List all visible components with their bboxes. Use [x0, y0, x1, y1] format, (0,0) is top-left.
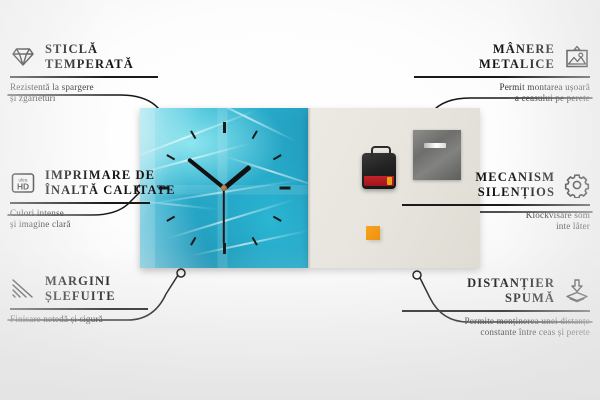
callout-title-2: METALICE: [479, 57, 555, 72]
callout-rule: [414, 76, 590, 78]
callout-title-2: TEMPERATĂ: [45, 57, 134, 72]
callout-title-2: SPUMĂ: [467, 291, 555, 306]
callout-desc-2: constante între ceas și perete: [400, 327, 590, 339]
callout-silent-mechanism: MECANISM SILENȚIOS Klockvisare som inte …: [400, 170, 590, 233]
picture-hanger-icon: [564, 44, 590, 70]
callout-rule: [10, 308, 148, 310]
diamond-icon: [10, 44, 36, 70]
gear-icon: [564, 172, 590, 198]
clock-center-hub: [221, 185, 227, 191]
svg-text:HD: HD: [17, 181, 29, 191]
callout-title-2: ȘLEFUITE: [45, 289, 116, 304]
callout-desc-1: Rezistentă la spargere: [10, 82, 190, 94]
callout-rule: [10, 202, 150, 204]
ultra-hd-badge-icon: ultra HD: [10, 170, 36, 196]
callout-title: MARGINI: [45, 274, 116, 289]
callout-desc-2: și imagine clară: [10, 219, 210, 231]
callout-rule: [402, 204, 590, 206]
callout-title-2: ÎNALTĂ CALITATE: [45, 183, 176, 198]
callout-rule: [402, 310, 590, 312]
callout-title: STICLĂ: [45, 42, 134, 57]
callout-desc-1: Culori intense: [10, 208, 210, 220]
callout-rule: [10, 76, 158, 78]
foam-spacer-icon: [564, 278, 590, 304]
callout-title: IMPRIMARE DE: [45, 168, 176, 183]
callout-metal-handles: MÂNERE METALICE Permit montarea ușoară a…: [400, 42, 590, 105]
callout-desc-1: Permite menținerea unei distanțe: [400, 316, 590, 328]
callout-desc-2: a ceasului pe perete: [400, 93, 590, 105]
callout-desc-1: Permit montarea ușoară: [400, 82, 590, 94]
callout-desc-2: și zgârieturi: [10, 93, 190, 105]
battery: [364, 176, 394, 186]
callout-tempered-glass: STICLĂ TEMPERATĂ Rezistentă la spargere …: [10, 42, 190, 105]
polished-edge-icon: [10, 276, 36, 302]
product-infographic: STICLĂ TEMPERATĂ Rezistentă la spargere …: [0, 0, 600, 400]
callout-desc-1: Klockvisare som: [400, 210, 590, 222]
callout-high-quality-print: ultra HD IMPRIMARE DE ÎNALTĂ CALITATE Cu…: [10, 168, 210, 231]
callout-polished-edges: MARGINI ȘLEFUITE Finisare netedă și sigu…: [10, 274, 200, 325]
clock-second-hand: [223, 188, 225, 244]
callout-title: MECANISM: [475, 170, 555, 185]
foam-spacer: [366, 226, 380, 240]
callout-foam-spacer: DISTANȚIER SPUMĂ Permite menținerea unei…: [400, 276, 590, 339]
callout-desc-2: inte låter: [400, 221, 590, 233]
callout-desc-1: Finisare netedă și sigură: [10, 314, 200, 326]
callout-title-2: SILENȚIOS: [475, 185, 555, 200]
callout-title: DISTANȚIER: [467, 276, 555, 291]
quartz-mechanism: [362, 153, 396, 189]
callout-title: MÂNERE: [479, 42, 555, 57]
